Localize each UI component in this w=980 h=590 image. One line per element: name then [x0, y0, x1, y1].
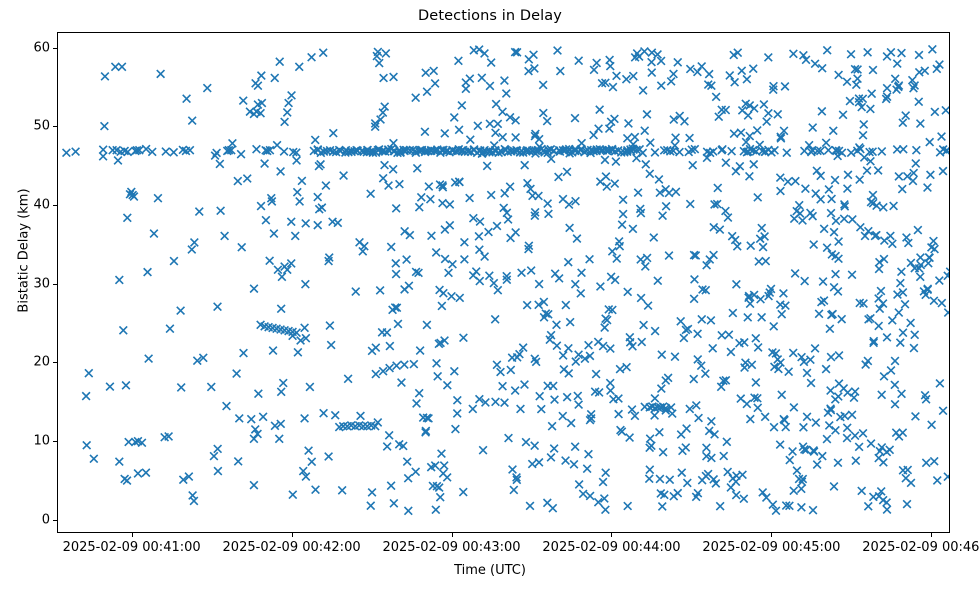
x-axis-tick-labels: 2025-02-09 00:41:002025-02-09 00:42:0020… — [0, 0, 980, 590]
x-tick-label: 2025-02-09 00:45:00 — [702, 540, 840, 555]
x-axis-label: Time (UTC) — [0, 563, 980, 578]
x-tick-label: 2025-02-09 00:43:00 — [382, 540, 520, 555]
x-tick-label: 2025-02-09 00:41:00 — [63, 540, 201, 555]
x-tick-label: 2025-02-09 00:42:00 — [223, 540, 361, 555]
matplotlib-figure: Detections in Delay 0102030405060 2025-0… — [0, 0, 980, 590]
x-tick-label: 2025-02-09 00:46:00 — [862, 540, 980, 555]
y-axis-label: Bistatic Delay (km) — [17, 141, 32, 361]
x-tick-label: 2025-02-09 00:44:00 — [542, 540, 680, 555]
